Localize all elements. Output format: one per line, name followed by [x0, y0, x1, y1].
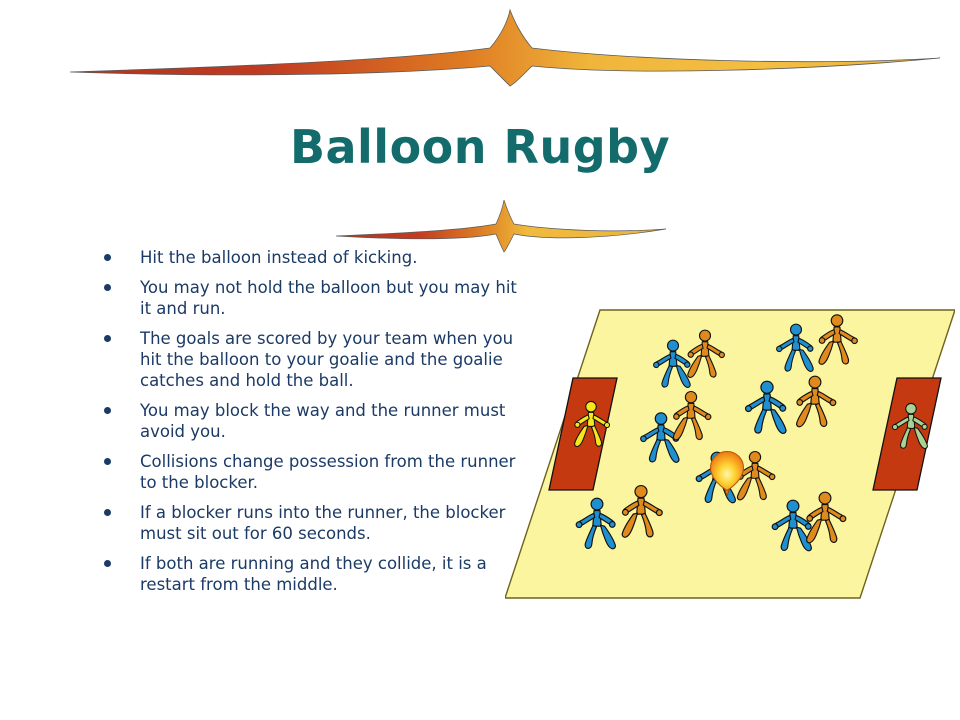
- middle-ornament: [336, 198, 666, 254]
- bullet-icon: [104, 458, 111, 465]
- rule-text: You may block the way and the runner mus…: [140, 401, 505, 441]
- rule-text: The goals are scored by your team when y…: [140, 329, 513, 390]
- top-ornament: [70, 8, 940, 88]
- page-title: Balloon Rugby: [0, 122, 960, 173]
- list-item: You may not hold the balloon but you may…: [98, 277, 518, 319]
- bullet-icon: [104, 509, 111, 516]
- list-item: Hit the balloon instead of kicking.: [98, 247, 518, 268]
- list-item: If both are running and they collide, it…: [98, 553, 518, 595]
- list-item: The goals are scored by your team when y…: [98, 328, 518, 391]
- balloon-rugby-field-diagram: [505, 300, 955, 610]
- bullet-icon: [104, 560, 111, 567]
- bullet-icon: [104, 335, 111, 342]
- bullet-icon: [104, 254, 111, 261]
- list-item: If a blocker runs into the runner, the b…: [98, 502, 518, 544]
- rules-list: Hit the balloon instead of kicking. You …: [98, 247, 518, 604]
- rule-text: If both are running and they collide, it…: [140, 554, 487, 594]
- rule-text: Hit the balloon instead of kicking.: [140, 248, 417, 267]
- list-item: You may block the way and the runner mus…: [98, 400, 518, 442]
- rule-text: If a blocker runs into the runner, the b…: [140, 503, 505, 543]
- rule-text: You may not hold the balloon but you may…: [140, 278, 517, 318]
- bullet-icon: [104, 407, 111, 414]
- rule-text: Collisions change possession from the ru…: [140, 452, 515, 492]
- bullet-icon: [104, 284, 111, 291]
- slide-canvas: Balloon Rugby Hit the balloon instead of…: [0, 0, 960, 720]
- list-item: Collisions change possession from the ru…: [98, 451, 518, 493]
